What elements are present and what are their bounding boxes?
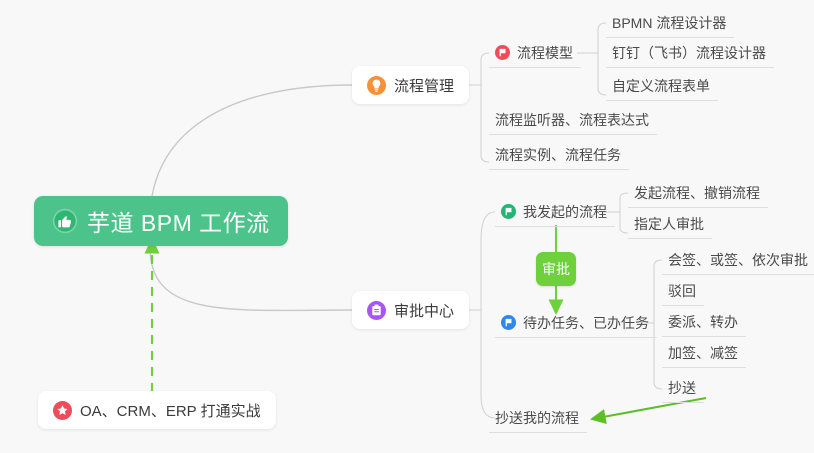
node-todo-done-tasks[interactable]: 待办任务、已办任务: [495, 308, 657, 338]
branch-label-approval-center: 审批中心: [394, 300, 454, 321]
star-icon: [53, 401, 72, 420]
connector-todo-bottom-corner: [654, 382, 662, 389]
lightbulb-icon: [367, 76, 386, 95]
connector-mine-top-corner: [620, 193, 628, 198]
floating-node-label-integration: OA、CRM、ERP 打通实战: [80, 400, 261, 421]
flag-icon: [501, 204, 516, 219]
connector-pm-top-corner: [481, 53, 489, 60]
node-label-listener-expression: 流程监听器、流程表达式: [495, 110, 649, 130]
connector-model-bottom-corner: [598, 88, 606, 95]
node-instance-task[interactable]: 流程实例、流程任务: [489, 140, 629, 170]
node-delegate-transfer[interactable]: 委派、转办: [662, 307, 746, 337]
node-add-remove-sign[interactable]: 加签、减签: [662, 338, 746, 368]
thumbs-up-icon: [52, 208, 78, 234]
node-label-countersign: 会签、或签、依次审批: [668, 250, 808, 270]
node-listener-expression[interactable]: 流程监听器、流程表达式: [489, 105, 657, 135]
root-node[interactable]: 芋道 BPM 工作流: [34, 196, 288, 246]
node-label-bpmn-designer: BPMN 流程设计器: [612, 13, 726, 33]
node-label-custom-process-form: 自定义流程表单: [612, 76, 710, 96]
flag-icon: [501, 315, 516, 330]
node-label-process-model: 流程模型: [517, 43, 573, 63]
connector-root-to-approval-center: [150, 248, 352, 310]
connector-ac-top-corner: [481, 212, 495, 240]
node-label-cc: 抄送: [668, 378, 696, 398]
branch-node-approval-center[interactable]: 审批中心: [352, 291, 469, 329]
branch-label-process-management: 流程管理: [394, 75, 454, 96]
node-reject[interactable]: 驳回: [662, 276, 704, 306]
node-label-delegate-transfer: 委派、转办: [668, 312, 738, 332]
connector-todo-top-corner: [654, 260, 662, 266]
flag-icon: [495, 45, 510, 60]
node-assignee-approval[interactable]: 指定人审批: [628, 209, 712, 239]
node-process-model[interactable]: 流程模型: [489, 38, 581, 68]
node-cc-to-me-processes[interactable]: 抄送我的流程: [489, 403, 587, 433]
node-label-reject: 驳回: [668, 281, 696, 301]
annotation-badge-approval-label: 审批: [542, 259, 570, 279]
mindmap-canvas: 芋道 BPM 工作流 流程管理 流程模型 BPMN 流程设计器 钉钉（飞书）流程…: [0, 0, 814, 453]
node-label-add-remove-sign: 加签、减签: [668, 343, 738, 363]
node-custom-process-form[interactable]: 自定义流程表单: [606, 71, 718, 101]
node-my-initiated-processes[interactable]: 我发起的流程: [495, 197, 615, 227]
node-label-dingtalk-feishu-designer: 钉钉（飞书）流程设计器: [612, 43, 766, 63]
node-label-start-cancel-process: 发起流程、撤销流程: [634, 183, 760, 203]
annotation-badge-approval[interactable]: 审批: [536, 252, 576, 286]
node-cc[interactable]: 抄送: [662, 373, 704, 403]
node-label-assignee-approval: 指定人审批: [634, 214, 704, 234]
connector-mine-bottom-corner: [620, 228, 628, 233]
node-label-instance-task: 流程实例、流程任务: [495, 145, 621, 165]
node-label-cc-to-me-processes: 抄送我的流程: [495, 408, 579, 428]
connector-pm-bottom-corner: [481, 155, 489, 162]
root-node-label: 芋道 BPM 工作流: [87, 204, 270, 238]
connector-model-top-corner: [598, 23, 606, 30]
node-label-my-initiated-processes: 我发起的流程: [523, 202, 607, 222]
node-countersign[interactable]: 会签、或签、依次审批: [662, 245, 814, 275]
branch-node-process-management[interactable]: 流程管理: [352, 66, 469, 104]
node-label-todo-done-tasks: 待办任务、已办任务: [523, 313, 649, 333]
node-bpmn-designer[interactable]: BPMN 流程设计器: [606, 8, 734, 38]
clipboard-icon: [367, 301, 386, 320]
node-dingtalk-feishu-designer[interactable]: 钉钉（飞书）流程设计器: [606, 38, 774, 68]
floating-node-integration[interactable]: OA、CRM、ERP 打通实战: [38, 391, 276, 429]
node-start-cancel-process[interactable]: 发起流程、撤销流程: [628, 178, 768, 208]
